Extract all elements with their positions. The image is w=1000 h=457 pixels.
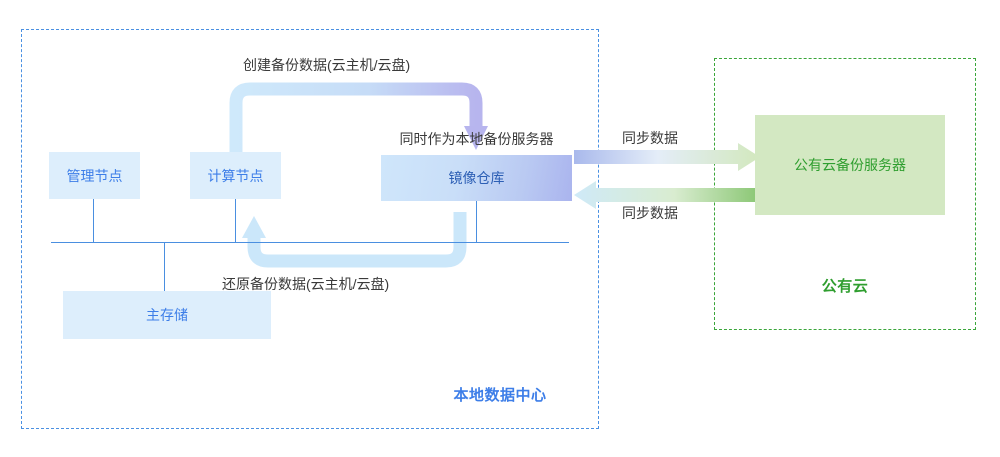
- node-image-repository[interactable]: 镜像仓库: [381, 155, 572, 201]
- connector-compute-node: [235, 199, 236, 243]
- flow-label-sync-data-out: 同步数据: [622, 128, 678, 148]
- flow-label-restore-backup: 还原备份数据(云主机/云盘): [222, 274, 389, 294]
- annotation-also-local-backup-server: 同时作为本地备份服务器: [381, 129, 572, 149]
- network-bus-line: [51, 242, 569, 243]
- zone-label-local-data-center: 本地数据中心: [0, 384, 1000, 405]
- zone-local-data-center: [21, 29, 599, 429]
- connector-image-repo: [476, 201, 477, 243]
- node-compute-node[interactable]: 计算节点: [190, 152, 281, 199]
- node-public-cloud-backup-server[interactable]: 公有云备份服务器: [755, 115, 945, 215]
- zone-label-public-cloud: 公有云: [714, 275, 976, 296]
- flow-label-create-backup: 创建备份数据(云主机/云盘): [243, 55, 410, 75]
- diagram-canvas: 管理节点 计算节点 镜像仓库 主存储 公有云备份服务器 同时作为本地备份服务器 …: [0, 0, 1000, 457]
- node-management-node[interactable]: 管理节点: [49, 152, 140, 199]
- connector-manage-node: [93, 199, 94, 243]
- flow-label-sync-data-in: 同步数据: [622, 203, 678, 223]
- connector-main-storage: [164, 242, 165, 292]
- node-main-storage[interactable]: 主存储: [63, 291, 271, 339]
